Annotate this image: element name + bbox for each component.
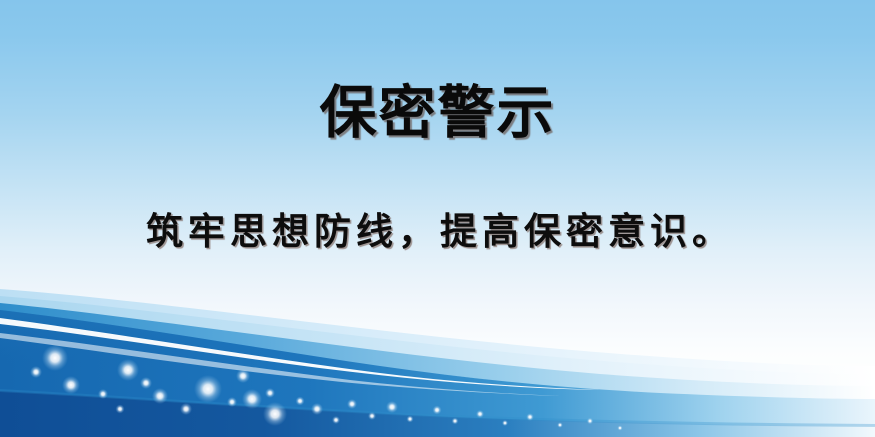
bokeh-dot xyxy=(476,410,484,418)
bokeh-dot xyxy=(386,401,398,413)
bokeh-dot xyxy=(116,405,125,414)
bokeh-dot xyxy=(194,375,222,403)
bokeh-dot xyxy=(263,402,287,426)
bokeh-dot xyxy=(617,425,622,430)
bokeh-dot xyxy=(227,397,237,407)
bokeh-dot xyxy=(236,369,250,383)
bokeh-dot xyxy=(265,388,275,398)
poster-canvas: 保密警示 筑牢思想防线，提高保密意识。 xyxy=(0,0,875,437)
bokeh-dot xyxy=(152,388,168,404)
bokeh-dot xyxy=(347,399,357,409)
bokeh-dot xyxy=(368,412,376,420)
bokeh-dot xyxy=(117,359,139,381)
bokeh-dot xyxy=(452,418,459,425)
bokeh-dot xyxy=(42,345,68,371)
bokeh-dot xyxy=(332,416,340,424)
blue-wave-ribbon-graphic xyxy=(0,0,875,437)
bokeh-dot xyxy=(30,366,42,378)
bokeh-dot xyxy=(311,403,323,415)
bokeh-dot xyxy=(296,397,305,406)
bokeh-dot xyxy=(140,377,152,389)
bokeh-dot xyxy=(180,403,192,415)
bokeh-dot xyxy=(62,376,80,394)
bokeh-dot xyxy=(407,416,414,423)
bokeh-dot xyxy=(502,420,508,426)
bokeh-dot xyxy=(433,406,442,415)
bokeh-dot xyxy=(587,418,593,424)
bokeh-dot xyxy=(557,422,563,428)
bokeh-dot xyxy=(98,389,108,399)
bokeh-dot xyxy=(526,413,534,421)
bokeh-dot xyxy=(242,389,262,409)
